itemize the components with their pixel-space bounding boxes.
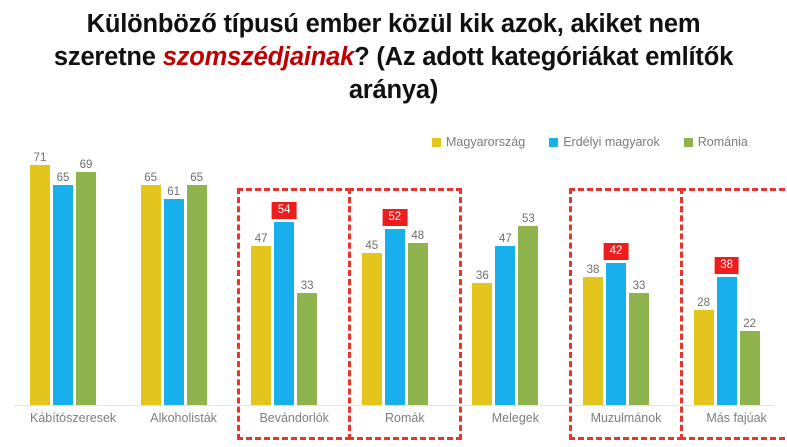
legend-item[interactable]: Magyarország (432, 135, 525, 149)
chart-legend: MagyarországErdélyi magyarokRománia (432, 133, 748, 151)
bar-slot: 65 (53, 155, 73, 405)
bar-slot: 33 (629, 155, 649, 405)
bar-group-bars: 455248 (362, 155, 448, 405)
bar-slot: 61 (164, 155, 184, 405)
legend-item[interactable]: Románia (684, 135, 748, 149)
bar-value-label-highlighted: 38 (714, 257, 739, 274)
bar[interactable] (694, 310, 714, 405)
category-axis-label: Muzulmánok (583, 411, 669, 425)
bar-slot: 65 (187, 155, 207, 405)
bar-slot: 33 (297, 155, 317, 405)
bar-group-bars: 364753 (472, 155, 558, 405)
bar[interactable] (495, 246, 515, 405)
bar-slot: 54 (274, 155, 294, 405)
title-line-1: Különböző típusú ember közül kik azok, a… (87, 10, 701, 38)
bar[interactable] (30, 165, 50, 405)
bar-value-label: 61 (167, 186, 180, 198)
bar[interactable] (141, 185, 161, 405)
bar[interactable] (187, 185, 207, 405)
bar-value-label: 47 (255, 233, 268, 245)
bar-group-bars: 656165 (141, 155, 227, 405)
bar-group: 475433Bevándorlók (251, 155, 337, 447)
bar-slot: 22 (740, 155, 760, 405)
bar[interactable] (274, 222, 294, 405)
title-accent-word: szomszédjainak (163, 43, 354, 71)
category-axis-label: Bevándorlók (251, 411, 337, 425)
bar[interactable] (629, 293, 649, 405)
bar[interactable] (717, 277, 737, 405)
bar-value-label-highlighted: 52 (382, 209, 407, 226)
bar-value-label: 65 (144, 172, 157, 184)
legend-item-label: Románia (698, 135, 748, 149)
bar-group: 384233Muzulmánok (583, 155, 669, 447)
bar-slot: 28 (694, 155, 714, 405)
bar-group-bars: 384233 (583, 155, 669, 405)
bar-value-label: 45 (365, 240, 378, 252)
bar-value-label-highlighted: 54 (272, 202, 297, 219)
bar-slot: 53 (518, 155, 538, 405)
title-line-3: aránya) (349, 76, 438, 104)
category-axis-label: Melegek (472, 411, 558, 425)
bar-slot: 47 (251, 155, 271, 405)
bar-value-label: 69 (80, 159, 93, 171)
category-axis-label: Más fajúak (694, 411, 780, 425)
bar-group-bars: 283822 (694, 155, 780, 405)
bar-value-label: 38 (587, 264, 600, 276)
bar-value-label: 71 (34, 152, 47, 164)
bar-group: 283822Más fajúak (694, 155, 780, 447)
bar-value-label: 36 (476, 270, 489, 282)
category-axis-label: Romák (362, 411, 448, 425)
bar-group-bars: 475433 (251, 155, 337, 405)
bar-value-label-highlighted: 42 (604, 243, 629, 260)
bar-slot: 52 (385, 155, 405, 405)
legend-item[interactable]: Erdélyi magyarok (549, 135, 660, 149)
title-line-2-pre: szeretne (54, 43, 163, 71)
bar-value-label: 22 (743, 318, 756, 330)
bar-group-bars: 716569 (30, 155, 116, 405)
bar-slot: 48 (408, 155, 428, 405)
legend-swatch-icon (549, 138, 558, 147)
bar-group: 656165Alkoholisták (141, 155, 227, 447)
bar-value-label: 65 (190, 172, 203, 184)
bar[interactable] (251, 246, 271, 405)
bar[interactable] (297, 293, 317, 405)
bar[interactable] (362, 253, 382, 405)
category-axis-label: Kábítószeresek (30, 411, 116, 425)
bar-value-label: 65 (57, 172, 70, 184)
bar-slot: 71 (30, 155, 50, 405)
bar[interactable] (740, 331, 760, 405)
bar-slot: 69 (76, 155, 96, 405)
bar-slot: 36 (472, 155, 492, 405)
category-axis-label: Alkoholisták (141, 411, 227, 425)
legend-swatch-icon (684, 138, 693, 147)
bar[interactable] (76, 172, 96, 405)
bar[interactable] (408, 243, 428, 405)
title-line-2-post: ? (Az adott kategóriákat említők (354, 43, 733, 71)
legend-swatch-icon (432, 138, 441, 147)
bar-value-label: 53 (522, 213, 535, 225)
bar-value-label: 28 (697, 297, 710, 309)
legend-item-label: Magyarország (446, 135, 525, 149)
bar[interactable] (53, 185, 73, 405)
bar[interactable] (164, 199, 184, 405)
bar[interactable] (518, 226, 538, 405)
bar-slot: 42 (606, 155, 626, 405)
bar-slot: 65 (141, 155, 161, 405)
bar-group: 364753Melegek (472, 155, 558, 447)
bar[interactable] (606, 263, 626, 405)
bar[interactable] (472, 283, 492, 405)
bar-slot: 45 (362, 155, 382, 405)
bar-slot: 38 (583, 155, 603, 405)
bar-slot: 38 (717, 155, 737, 405)
bar-value-label: 33 (301, 280, 314, 292)
bar-group: 716569Kábítószeresek (30, 155, 116, 447)
legend-item-label: Erdélyi magyarok (563, 135, 660, 149)
page-title: Különböző típusú ember közül kik azok, a… (18, 8, 769, 107)
bar-value-label: 48 (411, 230, 424, 242)
bar[interactable] (583, 277, 603, 405)
plot-area: 716569Kábítószeresek656165Alkoholisták47… (0, 155, 787, 447)
chart-page: Különböző típusú ember közül kik azok, a… (0, 0, 787, 447)
bar-value-label: 47 (499, 233, 512, 245)
bar-group: 455248Romák (362, 155, 448, 447)
bar-value-label: 33 (633, 280, 646, 292)
bar[interactable] (385, 229, 405, 405)
bar-slot: 47 (495, 155, 515, 405)
